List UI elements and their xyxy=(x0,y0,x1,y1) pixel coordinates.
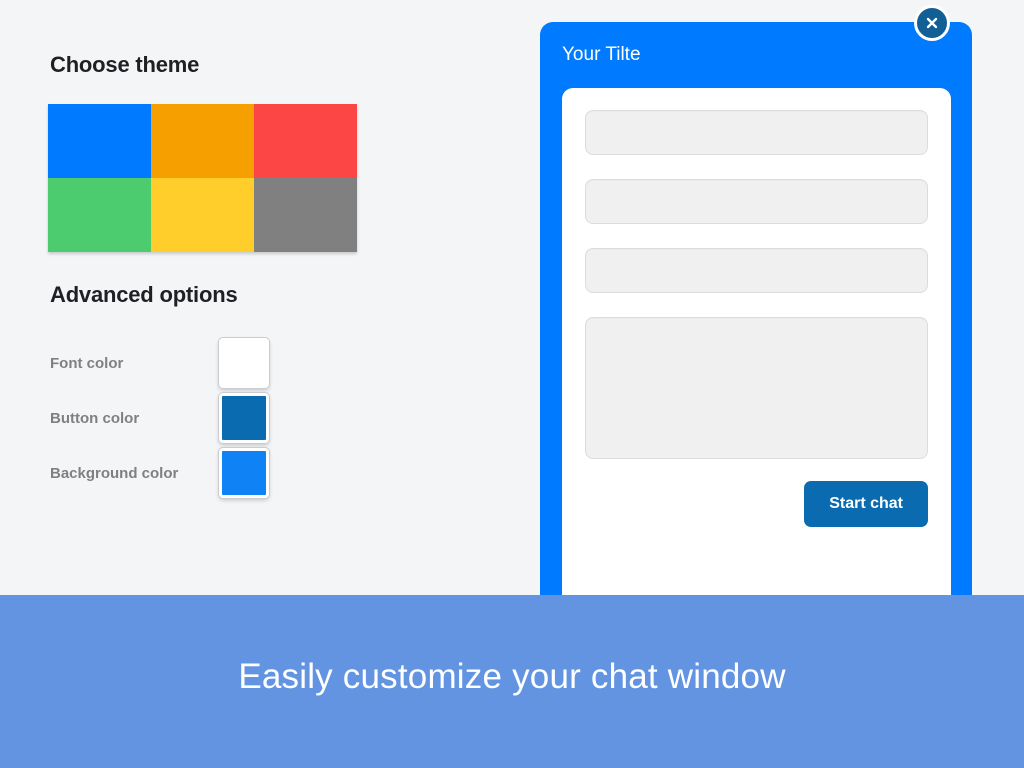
background-color-label: Background color xyxy=(50,465,219,482)
screenshot-stage: Choose theme Advanced options Font color… xyxy=(0,0,1024,768)
chat-field-1[interactable] xyxy=(585,110,928,155)
chat-message-textarea[interactable] xyxy=(585,317,928,459)
option-row-background-color: Background color xyxy=(50,448,350,498)
button-color-label: Button color xyxy=(50,410,219,427)
choose-theme-heading: Choose theme xyxy=(50,52,199,78)
theme-swatch-red[interactable] xyxy=(254,104,357,178)
chat-widget-title: Your Tilte xyxy=(562,44,641,66)
caption-band: Easily customize your chat window xyxy=(0,595,1024,768)
advanced-options-heading: Advanced options xyxy=(50,282,238,308)
theme-swatch-green[interactable] xyxy=(48,178,151,252)
chat-field-3[interactable] xyxy=(585,248,928,293)
chat-button-row: Start chat xyxy=(585,481,928,527)
option-row-font-color: Font color xyxy=(50,338,350,388)
close-x-icon xyxy=(924,15,940,31)
chat-widget-preview: Your Tilte Start chat xyxy=(540,22,972,595)
font-color-label: Font color xyxy=(50,355,219,372)
chat-widget-form-card: Start chat xyxy=(562,88,951,595)
theme-swatch-grid xyxy=(48,104,357,252)
theme-swatch-gray[interactable] xyxy=(254,178,357,252)
background-color-swatch[interactable] xyxy=(219,448,269,498)
chat-field-2[interactable] xyxy=(585,179,928,224)
close-button[interactable] xyxy=(914,5,950,41)
theme-swatch-yellow[interactable] xyxy=(151,178,254,252)
theme-settings-panel: Choose theme Advanced options Font color… xyxy=(0,0,515,595)
chat-widget-header: Your Tilte xyxy=(540,22,972,88)
start-chat-button[interactable]: Start chat xyxy=(804,481,928,527)
font-color-swatch[interactable] xyxy=(219,338,269,388)
theme-swatch-orange[interactable] xyxy=(151,104,254,178)
option-row-button-color: Button color xyxy=(50,393,350,443)
theme-swatch-blue[interactable] xyxy=(48,104,151,178)
caption-text: Easily customize your chat window xyxy=(238,657,785,697)
button-color-swatch[interactable] xyxy=(219,393,269,443)
